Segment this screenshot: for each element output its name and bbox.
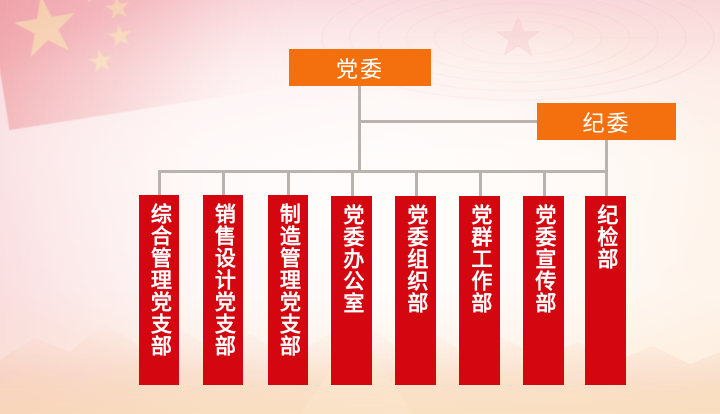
org-chart-canvas: 党委 纪委 综合管理党支部 销售设计党支部 制造管理党支部 党委办公室 党委组织… — [0, 0, 720, 414]
node-dept-bangongshi-label: 党委办公室 — [339, 204, 364, 314]
connector-bus-horizontal — [158, 170, 607, 173]
node-jiwei[interactable]: 纪委 — [537, 103, 676, 140]
node-dept-zuzhibu[interactable]: 党委组织部 — [395, 196, 436, 385]
node-dept-bangongshi[interactable]: 党委办公室 — [331, 196, 372, 385]
node-dept-xuanchuan[interactable]: 党委宣传部 — [523, 196, 564, 385]
connector-jiwei-horizontal — [358, 120, 538, 123]
node-dept-jijianbu-label: 纪检部 — [593, 204, 618, 270]
connector-drop-5 — [415, 170, 418, 196]
connector-drop-4 — [351, 170, 354, 196]
node-dept-dangqun[interactable]: 党群工作部 — [459, 196, 500, 385]
node-dangwei[interactable]: 党委 — [289, 49, 431, 86]
node-dept-jijianbu[interactable]: 纪检部 — [585, 196, 626, 385]
node-dangwei-label: 党委 — [336, 52, 384, 84]
connector-drop-3 — [287, 170, 290, 196]
connector-drop-1 — [158, 170, 161, 196]
china-flag-icon — [0, 0, 306, 130]
node-dept-zhizao-label: 制造管理党支部 — [276, 203, 301, 357]
node-dept-zuzhibu-label: 党委组织部 — [403, 204, 428, 314]
node-dept-zonghe-label: 综合管理党支部 — [147, 203, 172, 357]
node-dept-xuanchuan-label: 党委宣传部 — [531, 204, 556, 314]
connector-drop-6 — [479, 170, 482, 196]
node-dept-xiaoshou[interactable]: 销售设计党支部 — [203, 195, 243, 385]
connector-drop-2 — [222, 170, 225, 196]
node-dept-xiaoshou-label: 销售设计党支部 — [211, 203, 236, 357]
node-dept-zonghe[interactable]: 综合管理党支部 — [139, 195, 179, 385]
node-dept-zhizao[interactable]: 制造管理党支部 — [268, 195, 308, 385]
connector-drop-7 — [543, 170, 546, 196]
connector-jiwei-vertical — [605, 139, 608, 173]
node-jiwei-label: 纪委 — [582, 106, 630, 138]
connector-drop-8 — [605, 170, 608, 196]
connector-trunk-vertical — [358, 85, 361, 173]
node-dept-dangqun-label: 党群工作部 — [467, 204, 492, 314]
